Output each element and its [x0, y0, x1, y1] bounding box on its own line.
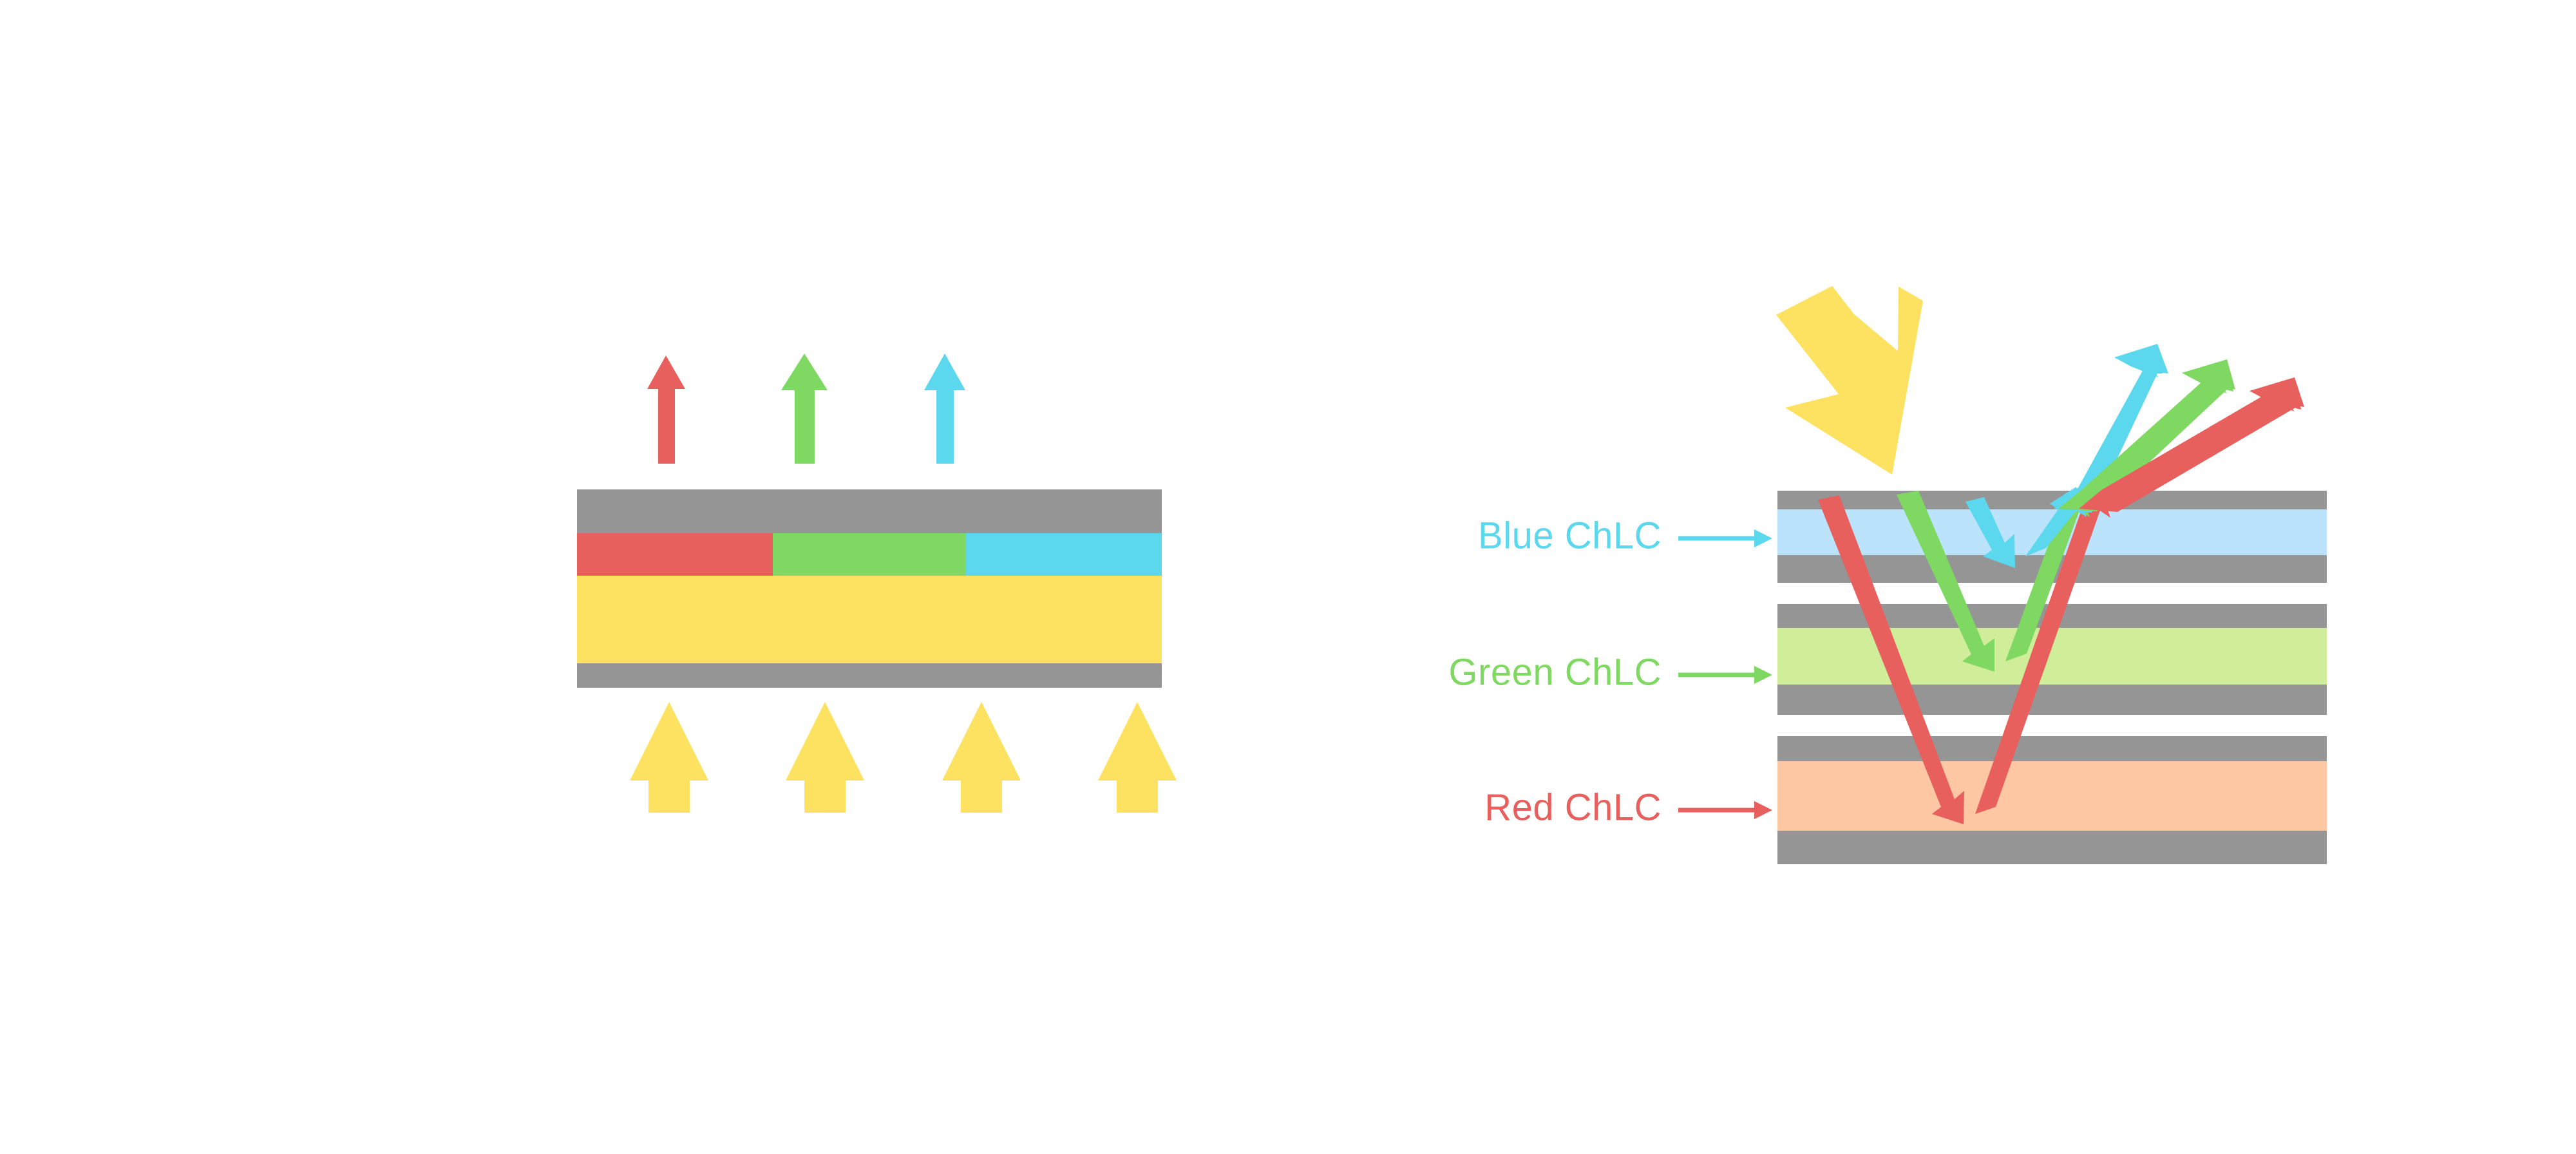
blue-chlc-label-text: Blue ChLC — [1478, 515, 1662, 556]
red-cell-bottom-electrode — [1777, 831, 2327, 864]
green-chlc-label-text: Green ChLC — [1448, 651, 1662, 693]
red-cell-top-electrode — [1777, 736, 2327, 761]
green-cell-bottom-electrode — [1777, 685, 2327, 715]
cyan-filter-segment — [966, 533, 1162, 576]
top-electrode-layer — [577, 489, 1162, 533]
blue-cell-top-electrode — [1777, 491, 2327, 509]
red-chlc-layer — [1777, 761, 2327, 831]
yellow-backlight-layer — [577, 576, 1162, 663]
chlc-display-diagram: Blue ChLC Green ChLC Red ChLC — [0, 0, 2576, 1154]
red-filter-segment — [577, 533, 773, 576]
bottom-electrode-layer — [577, 663, 1162, 688]
left-stack-layers — [577, 489, 1162, 688]
red-chlc-label-text: Red ChLC — [1484, 786, 1662, 828]
green-filter-segment — [773, 533, 966, 576]
figure-root: Blue ChLC Green ChLC Red ChLC — [0, 0, 2576, 1154]
